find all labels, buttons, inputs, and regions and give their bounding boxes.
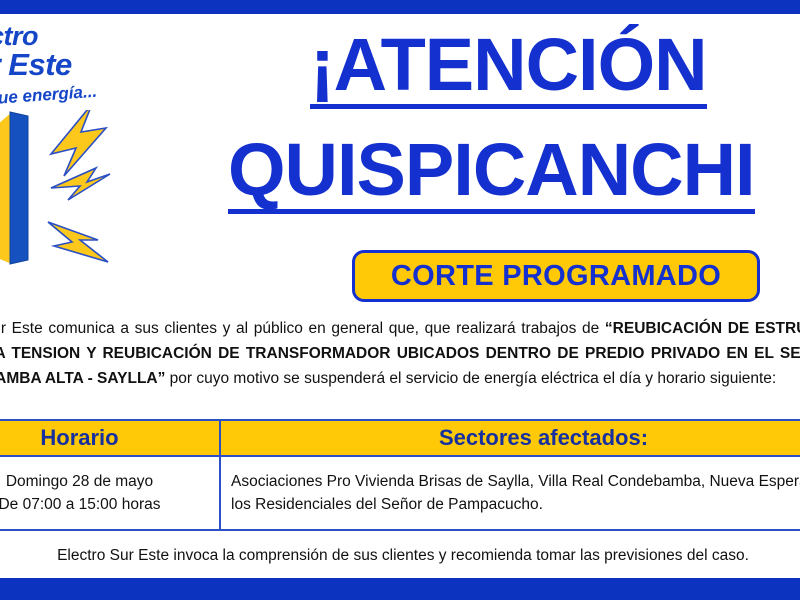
logo-wordmark: Electro Sur Este — [0, 24, 198, 80]
status-badge-label: CORTE PROGRAMADO — [391, 260, 721, 293]
notice-intro-suffix: por cuyo motivo se suspenderá el servici… — [165, 370, 776, 387]
logo-wordmark-line2: Sur Este — [0, 50, 198, 80]
company-logo: Electro Sur Este Más que energía... — [0, 24, 198, 299]
notice-intro-prefix: Electro Sur Este comunica a sus clientes… — [0, 320, 605, 337]
outage-schedule-table: Horario Sectores afectados: Domingo 28 d… — [0, 419, 800, 531]
notice-body-paragraph: Electro Sur Este comunica a sus clientes… — [0, 316, 800, 391]
table-header-sectores: Sectores afectados: — [220, 420, 800, 456]
table-body: Domingo 28 de mayo De 07:00 a 15:00 hora… — [0, 456, 800, 530]
lightning-bolt-icon — [48, 110, 110, 262]
table-cell-horario: Domingo 28 de mayo De 07:00 a 15:00 hora… — [0, 456, 220, 530]
table-header-horario: Horario — [0, 420, 220, 456]
table-row: Domingo 28 de mayo De 07:00 a 15:00 hora… — [0, 456, 800, 530]
horario-date: Domingo 28 de mayo — [0, 470, 209, 493]
status-badge: CORTE PROGRAMADO — [352, 250, 760, 302]
table-header: Horario Sectores afectados: — [0, 420, 800, 456]
megaphone-icon — [0, 110, 198, 300]
table-header-row: Horario Sectores afectados: — [0, 420, 800, 456]
logo-tagline: Más que energía... — [0, 82, 98, 112]
footer-note: Electro Sur Este invoca la comprensión d… — [0, 545, 800, 567]
page-title-attention: ¡ATENCIÓN — [310, 28, 707, 109]
table-cell-sectores: Asociaciones Pro Vivienda Brisas de Sayl… — [220, 456, 800, 530]
horario-time: De 07:00 a 15:00 horas — [0, 493, 209, 516]
bottom-brand-bar — [0, 578, 800, 600]
page-title-province: QUISPICANCHI — [228, 133, 755, 214]
outage-notice-poster: Electro Sur Este Más que energía... — [0, 0, 800, 600]
top-brand-bar — [0, 0, 800, 14]
